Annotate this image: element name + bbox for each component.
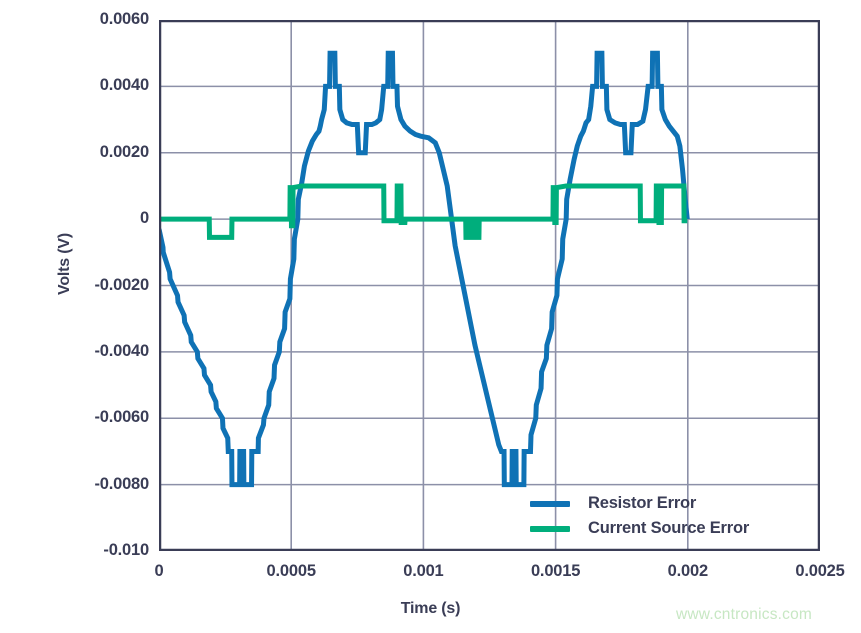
x-tick-label: 0.0005: [231, 562, 351, 581]
legend-item-resistor-error: Resistor Error: [530, 491, 749, 516]
x-tick-label: 0.0015: [496, 562, 616, 581]
y-tick-label: -0.0020: [9, 276, 149, 295]
y-tick-label: -0.0080: [9, 475, 149, 494]
watermark: www.cntronics.com: [676, 606, 812, 624]
x-tick-label: 0.002: [628, 562, 748, 581]
y-tick-label: -0.0040: [9, 342, 149, 361]
y-tick-label: 0: [9, 209, 149, 228]
legend-item-current-source-error: Current Source Error: [530, 516, 749, 541]
legend-swatch-current-source-error: [530, 526, 570, 532]
legend-swatch-resistor-error: [530, 501, 570, 507]
x-tick-label: 0: [99, 562, 219, 581]
gridlines: [159, 20, 820, 551]
y-tick-label: 0.0060: [9, 10, 149, 29]
legend-label-resistor-error: Resistor Error: [588, 494, 696, 513]
x-tick-label: 0.0025: [760, 562, 861, 581]
y-tick-label: -0.010: [9, 541, 149, 560]
plot-area: [159, 20, 820, 551]
y-tick-label: 0.0040: [9, 76, 149, 95]
chart-legend: Resistor Error Current Source Error: [530, 491, 749, 541]
x-tick-label: 0.001: [363, 562, 483, 581]
legend-label-current-source-error: Current Source Error: [588, 519, 749, 538]
y-tick-label: -0.0060: [9, 408, 149, 427]
chart-figure: Volts (V) Time (s) 0.00600.00400.00200-0…: [0, 0, 861, 633]
y-tick-label: 0.0020: [9, 143, 149, 162]
